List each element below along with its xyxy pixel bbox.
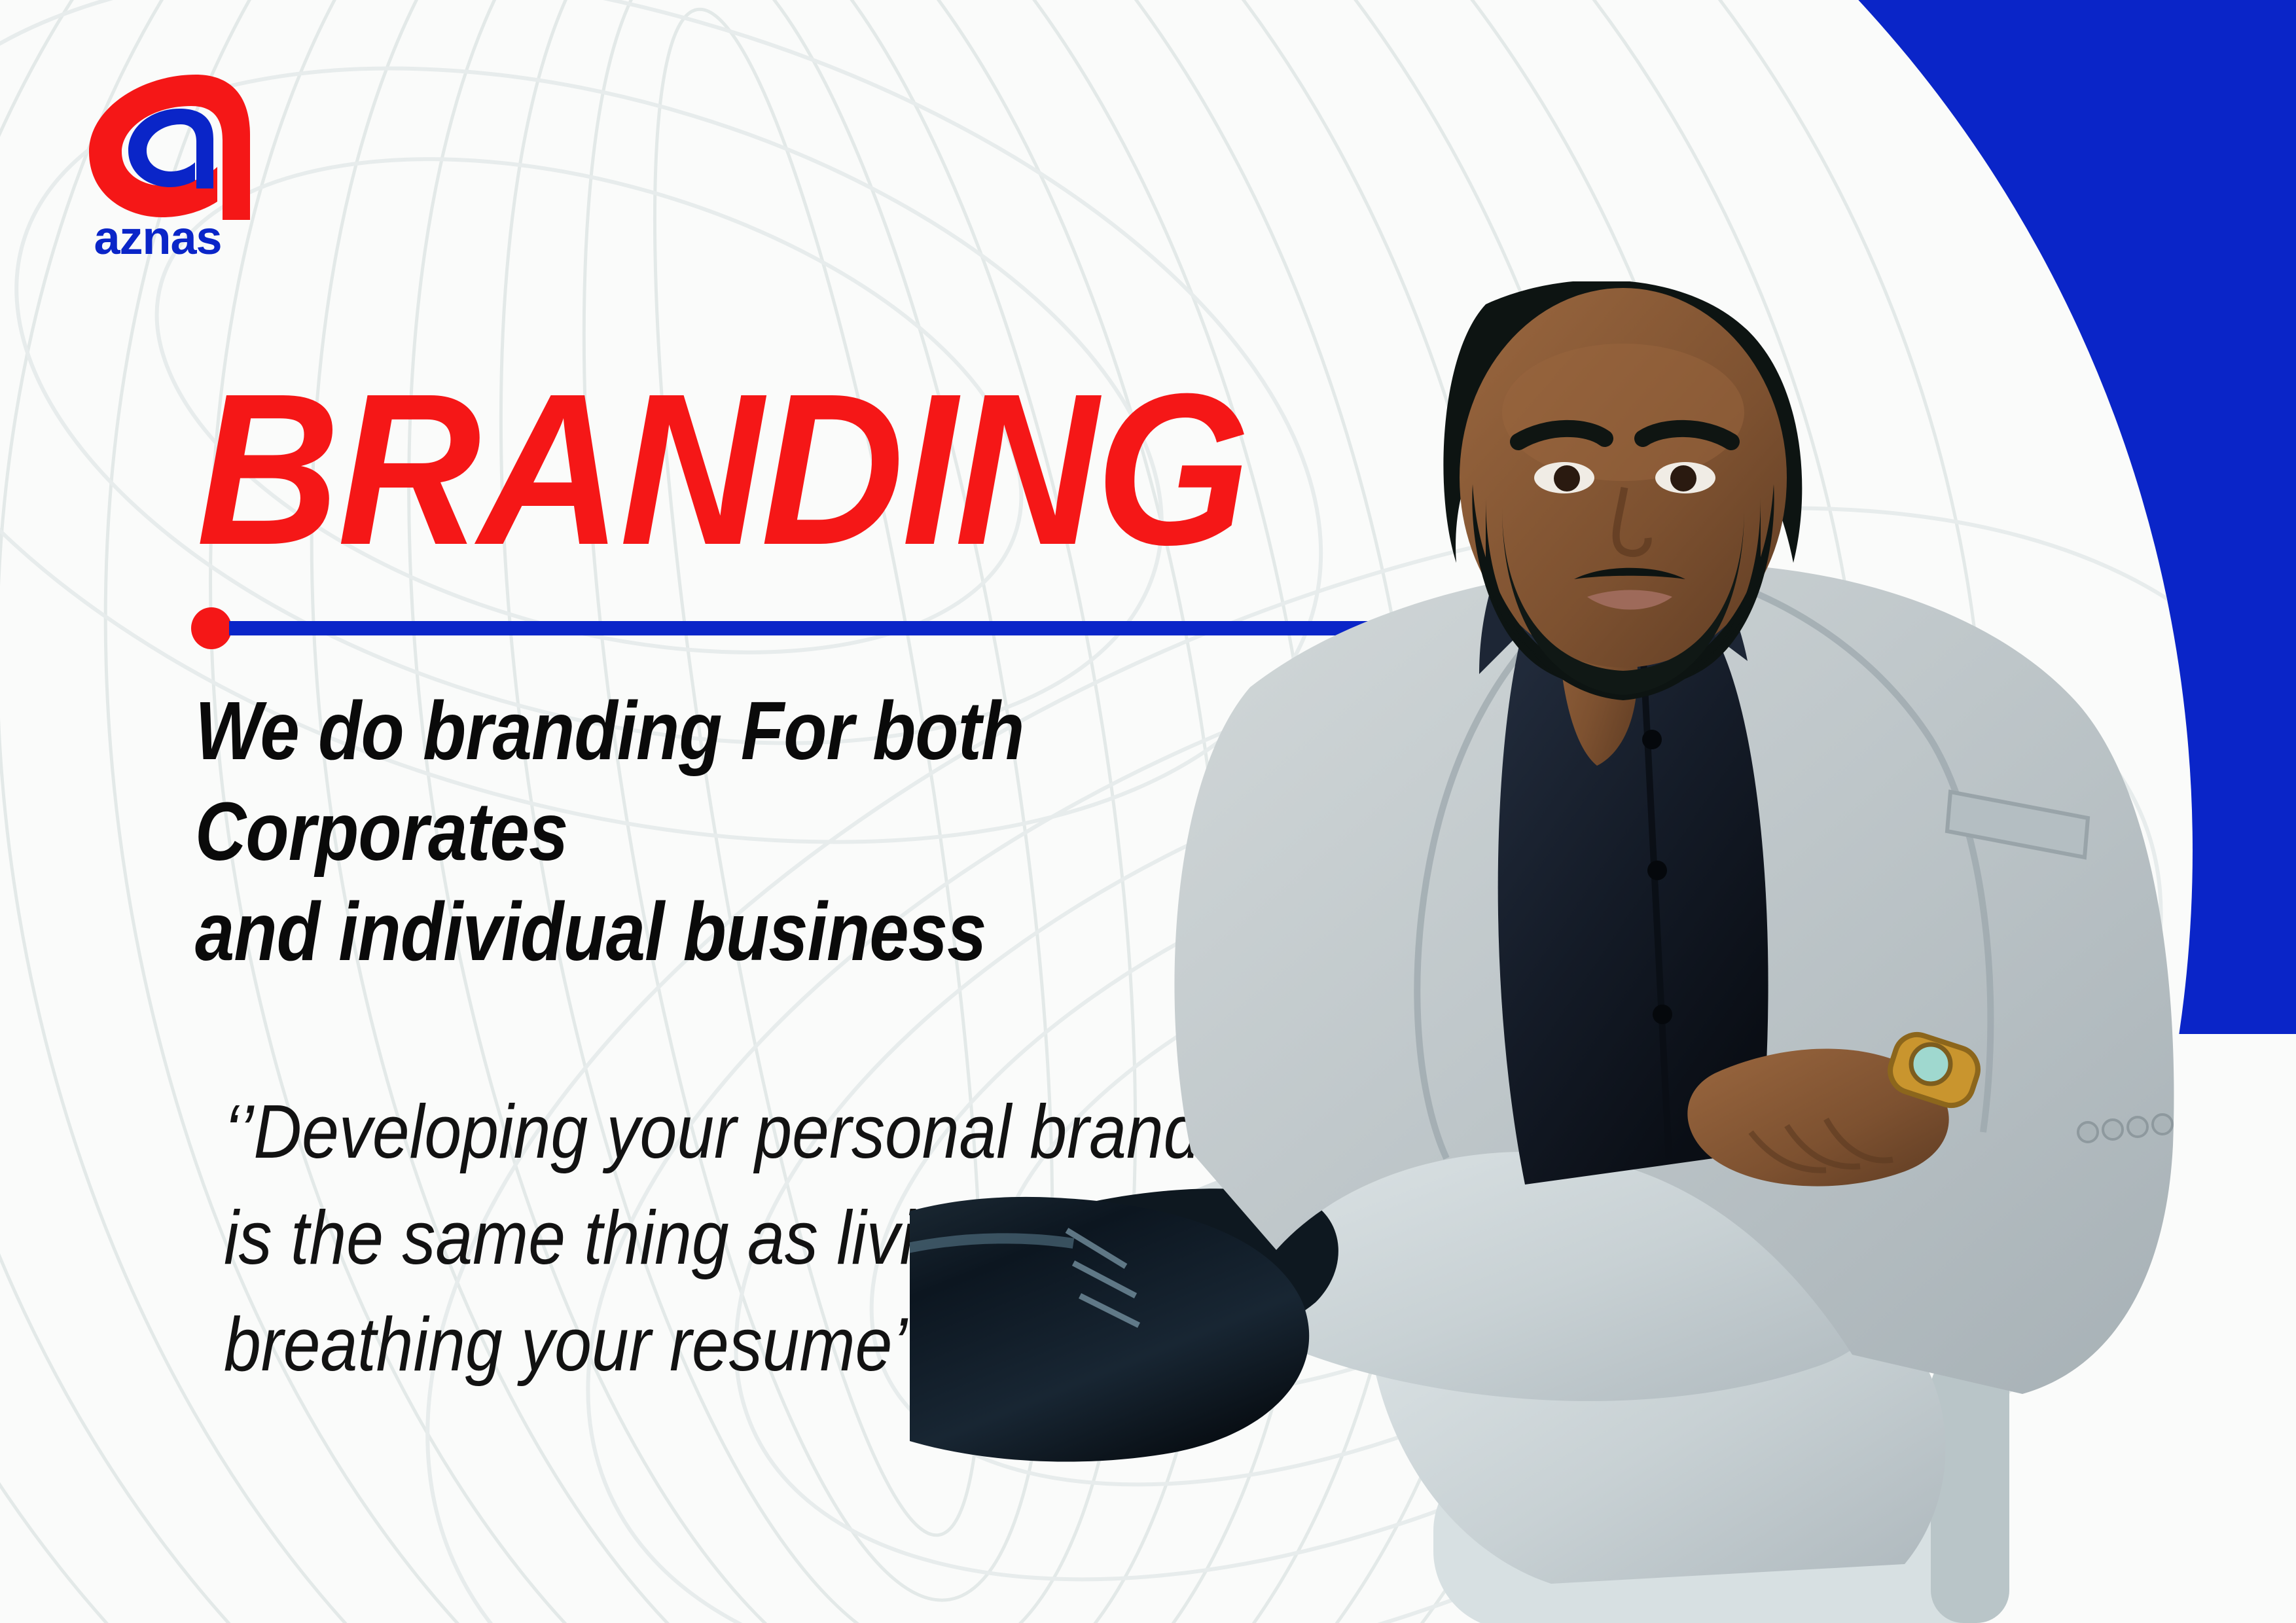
aznas-logo[interactable]: aznas (63, 63, 253, 259)
divider-dot (191, 607, 232, 649)
logo-mark-outer-a (89, 75, 250, 220)
logo-wordmark: aznas (94, 212, 221, 259)
branding-poster: aznas aznas BRANDING We do branding For … (0, 0, 2296, 1623)
businessman-photo (910, 281, 2296, 1623)
logo-mark-inner-a (128, 109, 213, 188)
